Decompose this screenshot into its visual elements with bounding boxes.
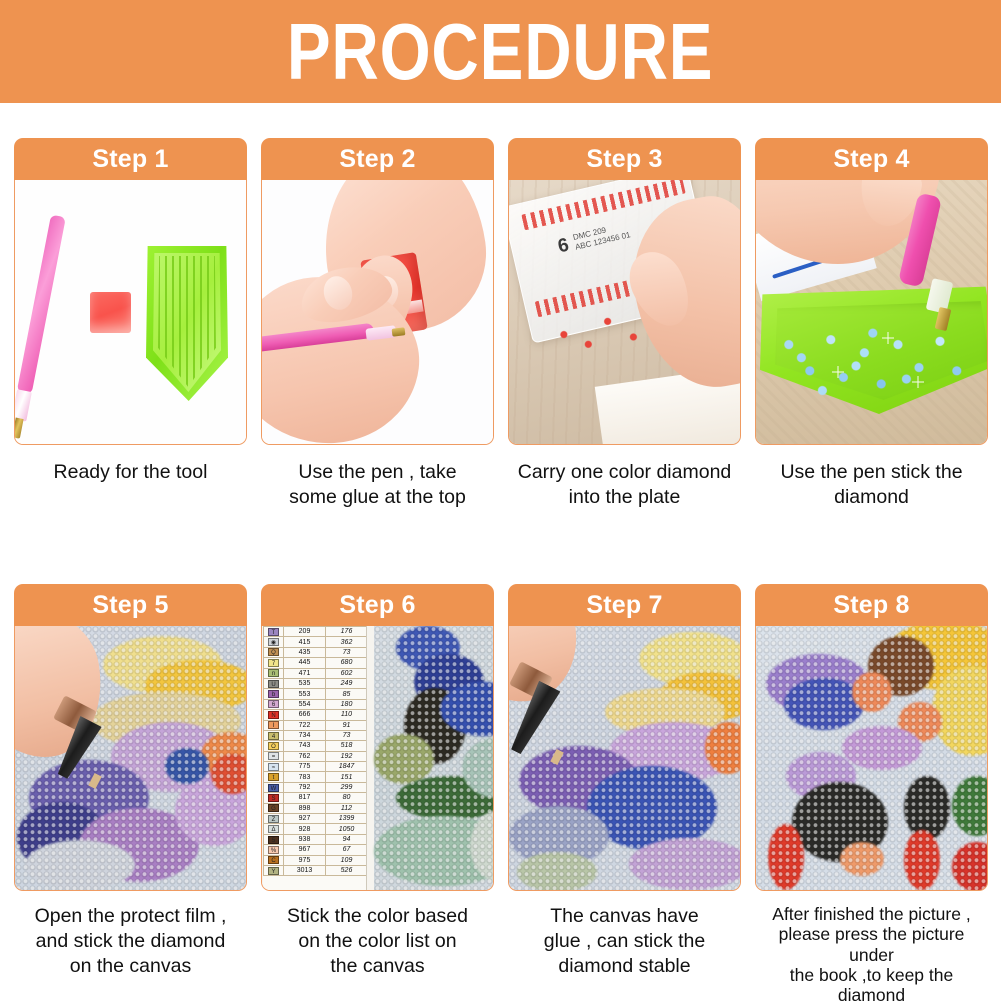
- color-count-cell: 180: [326, 699, 368, 709]
- step-header-3: Step 3: [508, 138, 741, 180]
- color-symbol-cell: N: [264, 710, 284, 720]
- color-swatch-icon: G: [268, 804, 279, 812]
- color-swatch-icon: Y: [268, 867, 279, 875]
- sparkle-icon: [882, 332, 894, 344]
- color-code-cell: 898: [284, 803, 326, 813]
- color-list-row: Z9271399: [264, 814, 368, 824]
- color-list-table: T209176◉415362Q435737445680n471602U53524…: [263, 626, 367, 876]
- color-list-row: U535249: [264, 678, 368, 688]
- color-code-cell: 792: [284, 782, 326, 792]
- step-caption-5: Open the protect film , and stick the di…: [14, 904, 247, 979]
- step-card-7: Step 7: [508, 584, 741, 979]
- color-list-row: b55385: [264, 689, 368, 699]
- color-list-row: O743518: [264, 741, 368, 751]
- glue-square-icon: [90, 292, 131, 333]
- color-symbol-cell: Δ: [264, 824, 284, 834]
- color-list-row: n471602: [264, 668, 368, 678]
- color-swatch-icon: =: [268, 752, 279, 760]
- step-header-label-5: Step 5: [92, 593, 168, 618]
- steps-row-2: Step 5: [0, 558, 1001, 1001]
- color-count-cell: 249: [326, 678, 368, 688]
- page-banner: PROCEDURE: [0, 0, 1001, 103]
- color-symbol-cell: n: [264, 668, 284, 678]
- color-list-row: 6554180: [264, 699, 368, 709]
- step-card-2: Step 2: [261, 138, 494, 510]
- step-figure-3: 6 DMC 209 ABC 123456 01: [508, 180, 741, 445]
- color-swatch-icon: I: [268, 721, 279, 729]
- color-code-cell: 445: [284, 658, 326, 668]
- color-symbol-cell: ◉: [264, 637, 284, 647]
- color-symbol-cell: Z: [264, 814, 284, 824]
- color-code-cell: 415: [284, 637, 326, 647]
- step-caption-6: Stick the color based on the color list …: [261, 904, 494, 979]
- caption-line: glue , can stick the: [510, 929, 739, 954]
- caption-line: on the color list on: [263, 929, 492, 954]
- color-count-cell: 67: [326, 845, 368, 855]
- step-header-4: Step 4: [755, 138, 988, 180]
- color-count-cell: 192: [326, 751, 368, 761]
- color-code-cell: 734: [284, 730, 326, 740]
- step-header-label-7: Step 7: [586, 593, 662, 618]
- color-count-cell: 94: [326, 834, 368, 844]
- color-list-row: G898112: [264, 803, 368, 813]
- color-count-cell: 299: [326, 782, 368, 792]
- color-symbol-cell: Y: [264, 865, 284, 875]
- step-figure-7: [508, 626, 741, 891]
- color-code-cell: 435: [284, 647, 326, 657]
- caption-line: Ready for the tool: [16, 460, 245, 485]
- color-swatch-icon: Q: [268, 648, 279, 656]
- step-caption-1: Ready for the tool: [14, 460, 247, 485]
- color-code-cell: 471: [284, 668, 326, 678]
- color-code-cell: 775: [284, 762, 326, 772]
- color-symbol-cell: %: [264, 845, 284, 855]
- step-header-7: Step 7: [508, 584, 741, 626]
- color-swatch-icon: n: [268, 669, 279, 677]
- color-swatch-icon: C: [268, 856, 279, 864]
- color-list-row: ≈7751847: [264, 762, 368, 772]
- caption-line: Stick the color based: [263, 904, 492, 929]
- color-count-cell: 91: [326, 720, 368, 730]
- caption-line: After finished the picture ,: [755, 904, 988, 924]
- color-count-cell: 110: [326, 710, 368, 720]
- color-symbol-cell: =: [264, 751, 284, 761]
- color-swatch-icon: U: [268, 680, 279, 688]
- color-symbol-cell: 4: [264, 730, 284, 740]
- step-header-label-2: Step 2: [339, 147, 415, 172]
- color-list-row: 473473: [264, 730, 368, 740]
- color-swatch-icon: %: [268, 846, 279, 854]
- sparkle-icon: [912, 376, 924, 388]
- color-swatch-icon: b: [268, 690, 279, 698]
- color-swatch-icon: S: [268, 794, 279, 802]
- color-symbol-cell: 5: [264, 834, 284, 844]
- color-swatch-icon: 5: [268, 836, 279, 844]
- step-figure-2: [261, 180, 494, 445]
- caption-line: diamond: [757, 485, 986, 510]
- color-count-cell: 518: [326, 741, 368, 751]
- page-title: PROCEDURE: [287, 12, 714, 92]
- color-list-row: t783151: [264, 772, 368, 782]
- caption-line: diamond stable: [510, 954, 739, 979]
- caption-line: the book ,to keep the diamond: [755, 965, 988, 1001]
- step-card-5: Step 5: [14, 584, 247, 979]
- color-count-cell: 680: [326, 658, 368, 668]
- color-list-row: %96767: [264, 845, 368, 855]
- step-header-8: Step 8: [755, 584, 988, 626]
- canvas-area: [374, 626, 493, 890]
- color-count-cell: 1847: [326, 762, 368, 772]
- step-card-4: Step 4: [755, 138, 988, 510]
- color-code-cell: 967: [284, 845, 326, 855]
- caption-line: into the plate: [510, 485, 739, 510]
- step-figure-8: [755, 626, 988, 891]
- color-symbol-cell: Q: [264, 647, 284, 657]
- caption-line: on the canvas: [16, 954, 245, 979]
- color-list-row: 7445680: [264, 658, 368, 668]
- diamond-grid-texture: [374, 626, 493, 890]
- color-count-cell: 80: [326, 793, 368, 803]
- color-list-row: ◉415362: [264, 637, 368, 647]
- color-count-cell: 151: [326, 772, 368, 782]
- color-symbol-cell: 7: [264, 658, 284, 668]
- step-caption-7: The canvas have glue , can stick the dia…: [508, 904, 741, 979]
- color-code-cell: 817: [284, 793, 326, 803]
- color-symbol-cell: W: [264, 782, 284, 792]
- color-list-row: Y3013526: [264, 865, 368, 875]
- color-count-cell: 73: [326, 647, 368, 657]
- color-symbol-cell: b: [264, 689, 284, 699]
- step-figure-6: T209176◉415362Q435737445680n471602U53524…: [261, 626, 494, 891]
- color-list-chart: T209176◉415362Q435737445680n471602U53524…: [263, 626, 367, 890]
- step-caption-8: After finished the picture , please pres…: [755, 904, 988, 1001]
- procedure-infographic: PROCEDURE Step 1: [0, 0, 1001, 1001]
- color-list-row: I72291: [264, 720, 368, 730]
- color-count-cell: 526: [326, 865, 368, 875]
- caption-line: Carry one color diamond: [510, 460, 739, 485]
- color-list-row: S81780: [264, 793, 368, 803]
- color-list-row: W792299: [264, 782, 368, 792]
- sparkle-icon: [832, 366, 844, 378]
- color-symbol-cell: U: [264, 678, 284, 688]
- blue-diamonds: [772, 320, 982, 402]
- caption-line: Use the pen , take: [263, 460, 492, 485]
- color-code-cell: 722: [284, 720, 326, 730]
- step-header-1: Step 1: [14, 138, 247, 180]
- color-swatch-icon: 7: [268, 659, 279, 667]
- color-symbol-cell: T: [264, 627, 284, 637]
- step-header-5: Step 5: [14, 584, 247, 626]
- color-code-cell: 554: [284, 699, 326, 709]
- steps-grid: Step 1: [0, 103, 1001, 1001]
- color-swatch-icon: Δ: [268, 825, 279, 833]
- color-symbol-cell: S: [264, 793, 284, 803]
- color-code-cell: 938: [284, 834, 326, 844]
- step-figure-1: [14, 180, 247, 445]
- color-list-row: Δ9281050: [264, 824, 368, 834]
- color-count-cell: 176: [326, 627, 368, 637]
- color-swatch-icon: 6: [268, 700, 279, 708]
- step-caption-3: Carry one color diamond into the plate: [508, 460, 741, 510]
- color-list-row: N666110: [264, 710, 368, 720]
- caption-line: Use the pen stick the: [757, 460, 986, 485]
- step-figure-4: [755, 180, 988, 445]
- color-list-row: 593894: [264, 834, 368, 844]
- step-card-8: Step 8: [755, 584, 988, 1001]
- caption-line: Open the protect film ,: [16, 904, 245, 929]
- color-code-cell: 927: [284, 814, 326, 824]
- color-code-cell: 3013: [284, 865, 326, 875]
- step-caption-4: Use the pen stick the diamond: [755, 460, 988, 510]
- step-header-label-1: Step 1: [92, 147, 168, 172]
- color-swatch-icon: O: [268, 742, 279, 750]
- color-code-cell: 535: [284, 678, 326, 688]
- color-count-cell: 362: [326, 637, 368, 647]
- bag-code: DMC 209 ABC 123456 01: [572, 220, 632, 252]
- color-symbol-cell: G: [264, 803, 284, 813]
- step-header-label-3: Step 3: [586, 147, 662, 172]
- color-code-cell: 783: [284, 772, 326, 782]
- green-tray-icon: [146, 246, 228, 401]
- color-count-cell: 602: [326, 668, 368, 678]
- caption-line: some glue at the top: [263, 485, 492, 510]
- color-list-body: T209176◉415362Q435737445680n471602U53524…: [264, 627, 368, 876]
- color-list-row: C975109: [264, 855, 368, 865]
- color-code-cell: 975: [284, 855, 326, 865]
- color-count-cell: 73: [326, 730, 368, 740]
- step-header-label-8: Step 8: [833, 593, 909, 618]
- color-symbol-cell: ≈: [264, 762, 284, 772]
- color-count-cell: 112: [326, 803, 368, 813]
- color-list-row: T209176: [264, 627, 368, 637]
- color-count-cell: 1399: [326, 814, 368, 824]
- step-card-3: Step 3 6 DMC 209 ABC 123456 01: [508, 138, 741, 510]
- color-swatch-icon: t: [268, 773, 279, 781]
- step-header-label-6: Step 6: [339, 593, 415, 618]
- color-swatch-icon: ≈: [268, 763, 279, 771]
- color-count-cell: 85: [326, 689, 368, 699]
- step-header-2: Step 2: [261, 138, 494, 180]
- color-code-cell: 209: [284, 627, 326, 637]
- step-card-6: Step 6 T209176◉415362Q435737445680n47160…: [261, 584, 494, 979]
- color-code-cell: 743: [284, 741, 326, 751]
- steps-row-1: Step 1: [0, 103, 1001, 558]
- caption-line: and stick the diamond: [16, 929, 245, 954]
- step-header-6: Step 6: [261, 584, 494, 626]
- diamond-grid-texture: [756, 626, 987, 890]
- color-swatch-icon: N: [268, 711, 279, 719]
- color-swatch-icon: 4: [268, 732, 279, 740]
- step-card-1: Step 1: [14, 138, 247, 485]
- color-code-cell: 928: [284, 824, 326, 834]
- color-symbol-cell: O: [264, 741, 284, 751]
- color-code-cell: 762: [284, 751, 326, 761]
- step-header-label-4: Step 4: [833, 147, 909, 172]
- color-code-cell: 666: [284, 710, 326, 720]
- color-symbol-cell: I: [264, 720, 284, 730]
- color-symbol-cell: C: [264, 855, 284, 865]
- caption-line: the canvas: [263, 954, 492, 979]
- caption-line: please press the picture under: [755, 924, 988, 965]
- color-list-row: =762192: [264, 751, 368, 761]
- color-code-cell: 553: [284, 689, 326, 699]
- step-figure-5: [14, 626, 247, 891]
- color-swatch-icon: Z: [268, 815, 279, 823]
- color-count-cell: 1050: [326, 824, 368, 834]
- color-swatch-icon: ◉: [268, 638, 279, 646]
- color-symbol-cell: t: [264, 772, 284, 782]
- step-caption-2: Use the pen , take some glue at the top: [261, 460, 494, 510]
- caption-line: The canvas have: [510, 904, 739, 929]
- color-swatch-icon: W: [268, 784, 279, 792]
- color-list-row: Q43573: [264, 647, 368, 657]
- color-swatch-icon: T: [268, 628, 279, 636]
- color-symbol-cell: 6: [264, 699, 284, 709]
- color-count-cell: 109: [326, 855, 368, 865]
